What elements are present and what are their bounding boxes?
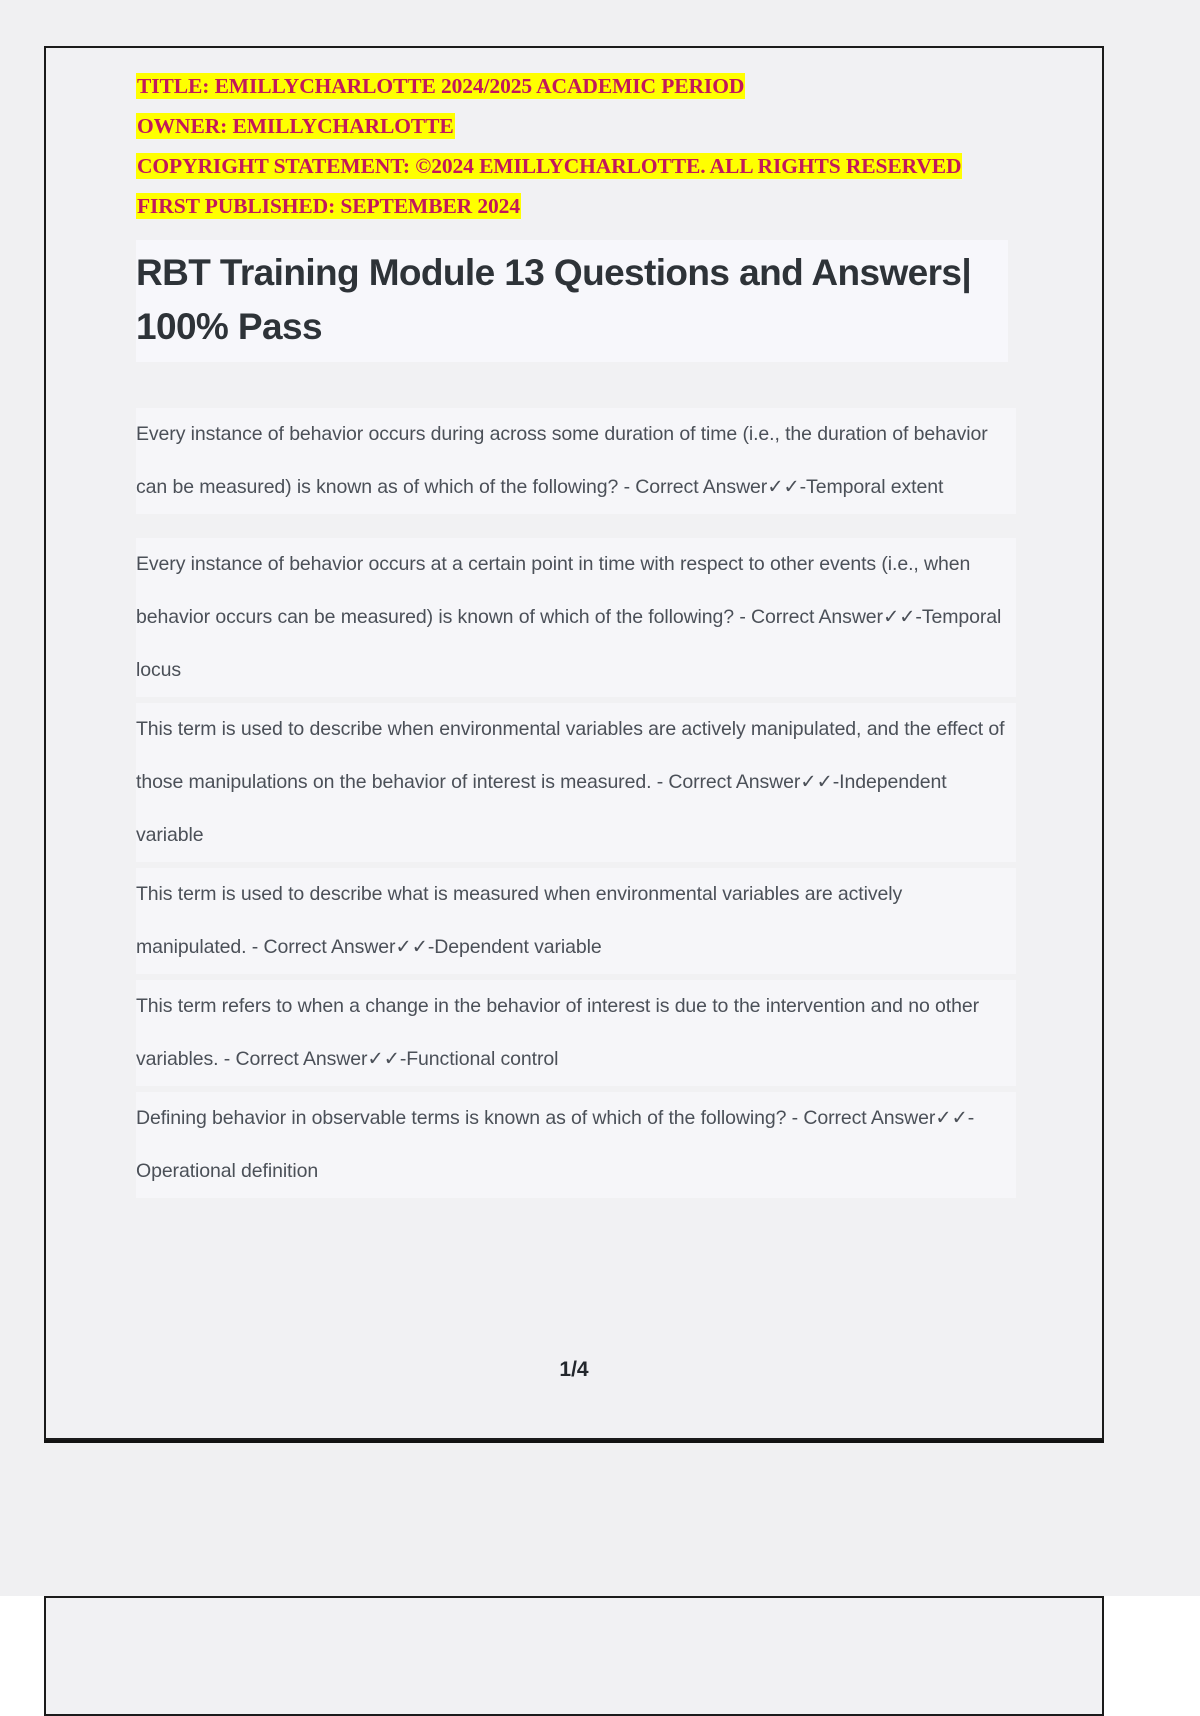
qa-block: This term is used to describe when envir… (136, 703, 1016, 862)
meta-owner-text: OWNER: EMILLYCHARLOTTE (136, 113, 455, 139)
document-page-2[interactable] (44, 1596, 1104, 1716)
page-title: RBT Training Module 13 Questions and Ans… (136, 240, 1008, 362)
qa-block: This term refers to when a change in the… (136, 980, 1016, 1086)
meta-copyright-text: COPYRIGHT STATEMENT: ©2024 EMILLYCHARLOT… (136, 153, 962, 179)
qa-block: Defining behavior in observable terms is… (136, 1092, 1016, 1198)
meta-title-text: TITLE: EMILLYCHARLOTTE 2024/2025 ACADEMI… (136, 73, 745, 99)
document-page-1[interactable]: TITLE: EMILLYCHARLOTTE 2024/2025 ACADEMI… (44, 46, 1104, 1440)
meta-line-copyright: COPYRIGHT STATEMENT: ©2024 EMILLYCHARLOT… (136, 146, 1016, 186)
copyright-meta-block: TITLE: EMILLYCHARLOTTE 2024/2025 ACADEMI… (136, 66, 1016, 226)
qa-list: Every instance of behavior occurs during… (136, 408, 1016, 1198)
qa-block: Every instance of behavior occurs at a c… (136, 538, 1016, 697)
meta-line-owner: OWNER: EMILLYCHARLOTTE (136, 106, 1016, 146)
qa-block: Every instance of behavior occurs during… (136, 408, 1016, 514)
page-number-footer: 1/4 (46, 1358, 1102, 1382)
page-gutter (0, 1490, 1200, 1596)
meta-first-published-text: FIRST PUBLISHED: SEPTEMBER 2024 (136, 193, 521, 219)
page-content: TITLE: EMILLYCHARLOTTE 2024/2025 ACADEMI… (136, 66, 1016, 1204)
meta-line-first-published: FIRST PUBLISHED: SEPTEMBER 2024 (136, 186, 1016, 226)
meta-line-title: TITLE: EMILLYCHARLOTTE 2024/2025 ACADEMI… (136, 66, 1016, 106)
qa-block: This term is used to describe what is me… (136, 868, 1016, 974)
document-viewer[interactable]: TITLE: EMILLYCHARLOTTE 2024/2025 ACADEMI… (0, 0, 1200, 1700)
